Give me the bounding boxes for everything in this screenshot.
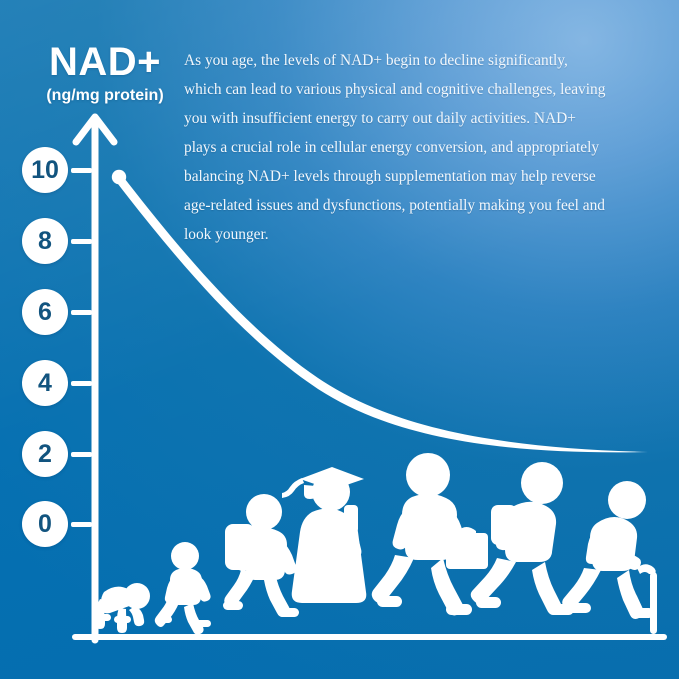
book-icon <box>344 505 358 533</box>
figure-elderly-with-cane <box>562 481 657 634</box>
nad-decline-infographic: NAD+ (ng/mg protein) As you age, the lev… <box>0 0 679 679</box>
figure-graduate <box>282 467 366 603</box>
tassel-icon <box>282 478 304 498</box>
figure-crawling-baby <box>93 583 150 633</box>
age-progression-figures <box>0 0 679 679</box>
figure-businessman <box>372 453 488 615</box>
briefcase-icon <box>446 527 488 569</box>
walking-cane-icon <box>637 564 657 634</box>
figure-schoolchild <box>223 494 299 617</box>
figure-toddler <box>155 542 211 635</box>
